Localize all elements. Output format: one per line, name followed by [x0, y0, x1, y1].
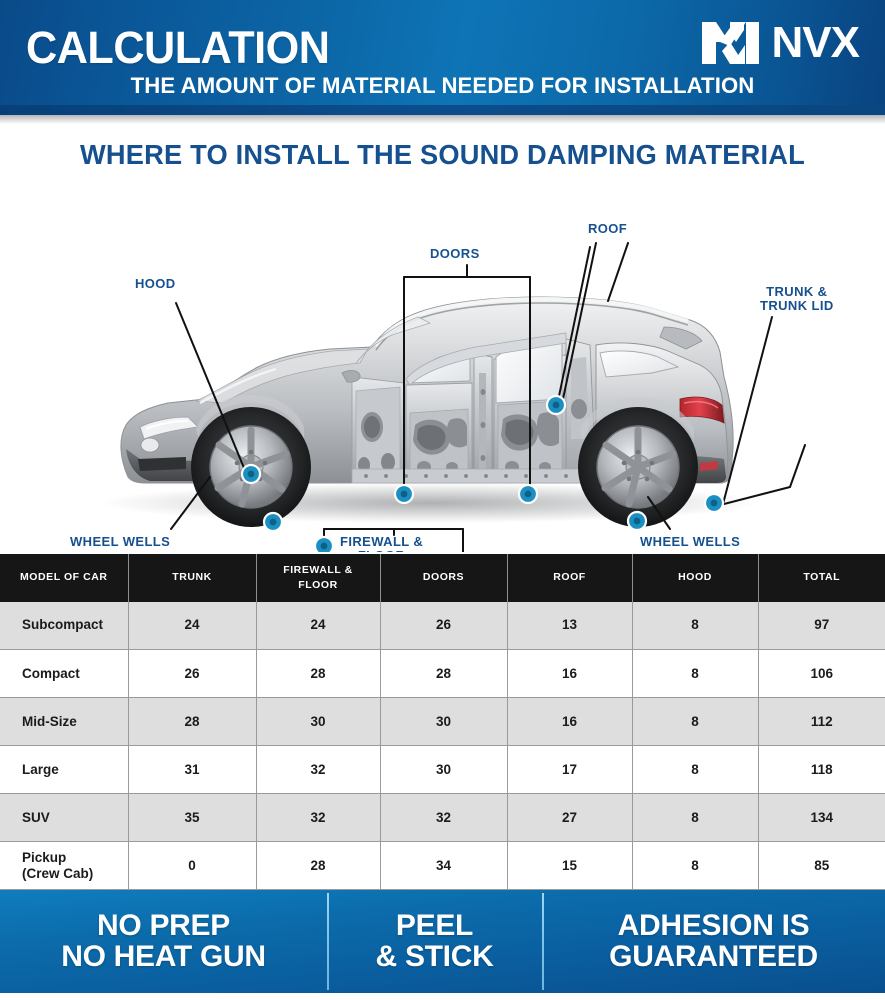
- label-trunk-line2: TRUNK LID: [760, 299, 834, 314]
- cell-total: 112: [758, 698, 885, 746]
- brand-logo: NVX: [700, 20, 859, 70]
- col-header-roof: ROOF: [507, 554, 632, 602]
- cell-roof: 27: [507, 794, 632, 842]
- cell-model: Large: [0, 746, 128, 794]
- col-header-firewall-line1: FIREWALL &: [261, 563, 376, 577]
- cell-total: 106: [758, 650, 885, 698]
- cell-firewall-floor: 32: [256, 746, 380, 794]
- label-hood: HOOD: [135, 277, 176, 292]
- footer-benefits: NO PREP NO HEAT GUN PEEL & STICK ADHESIO…: [0, 890, 885, 993]
- cell-total: 97: [758, 602, 885, 650]
- header-bottom-band: [0, 105, 885, 115]
- label-firewall-line1: FIREWALL &: [340, 535, 423, 550]
- col-header-firewall-floor: FIREWALL & FLOOR: [256, 554, 380, 602]
- table-row: SUV 35 32 32 27 8 134: [0, 794, 885, 842]
- footer-peel-line1: PEEL: [376, 911, 494, 942]
- material-table-wrapper: MODEL OF CAR TRUNK FIREWALL & FLOOR DOOR…: [0, 554, 885, 891]
- cell-trunk: 24: [128, 602, 256, 650]
- cell-total: 118: [758, 746, 885, 794]
- label-wheel-wells-front: WHEEL WELLS: [70, 535, 170, 550]
- cell-model: Mid-Size: [0, 698, 128, 746]
- cell-model: SUV: [0, 794, 128, 842]
- cell-roof: 16: [507, 650, 632, 698]
- label-roof: ROOF: [588, 222, 627, 237]
- col-header-hood: HOOD: [632, 554, 758, 602]
- cell-firewall-floor: 24: [256, 602, 380, 650]
- section-heading: WHERE TO INSTALL THE SOUND DAMPING MATER…: [4, 141, 880, 169]
- cell-doors: 28: [380, 650, 507, 698]
- car-cutaway-illustration: [0, 177, 885, 552]
- cell-trunk: 31: [128, 746, 256, 794]
- cell-model: Pickup (Crew Cab): [0, 842, 128, 890]
- col-header-doors: DOORS: [380, 554, 507, 602]
- cell-firewall-floor: 30: [256, 698, 380, 746]
- cell-model: Compact: [0, 650, 128, 698]
- table-row: Large 31 32 30 17 8 118: [0, 746, 885, 794]
- table-row: Subcompact 24 24 26 13 8 97: [0, 602, 885, 650]
- cell-hood: 8: [632, 794, 758, 842]
- material-table: MODEL OF CAR TRUNK FIREWALL & FLOOR DOOR…: [0, 554, 885, 891]
- xs-bowtie-logo-mark-icon: [700, 20, 774, 66]
- table-row: Pickup (Crew Cab) 0 28 34 15 8 85: [0, 842, 885, 890]
- header-drop-shadow: [0, 115, 885, 124]
- cell-roof: 13: [507, 602, 632, 650]
- cell-model: Subcompact: [0, 602, 128, 650]
- col-header-total: TOTAL: [758, 554, 885, 602]
- cell-trunk: 35: [128, 794, 256, 842]
- cell-total: 134: [758, 794, 885, 842]
- label-doors: DOORS: [430, 247, 480, 262]
- table-row: Mid-Size 28 30 30 16 8 112: [0, 698, 885, 746]
- cell-trunk: 26: [128, 650, 256, 698]
- cell-firewall-floor: 28: [256, 842, 380, 890]
- footer-adhesion-line1: ADHESION IS: [609, 911, 818, 942]
- footer-no-prep-line1: NO PREP: [61, 911, 265, 942]
- label-wheel-wells-rear: WHEEL WELLS: [640, 535, 740, 550]
- label-firewall-floor: FIREWALL & FLOOR: [340, 535, 423, 552]
- infographic-page: CALCULATION: [0, 0, 885, 1000]
- cell-model-line1: Pickup: [22, 850, 124, 866]
- cell-doors: 34: [380, 842, 507, 890]
- header-subtitle: THE AMOUNT OF MATERIAL NEEDED FOR INSTAL…: [32, 75, 853, 98]
- cell-roof: 16: [507, 698, 632, 746]
- footer-peel-line2: & STICK: [376, 942, 494, 973]
- table-row: Compact 26 28 28 16 8 106: [0, 650, 885, 698]
- label-trunk-line1: TRUNK &: [760, 285, 834, 300]
- cell-hood: 8: [632, 746, 758, 794]
- cell-model-line2: (Crew Cab): [22, 866, 124, 882]
- col-header-firewall-line2: FLOOR: [261, 578, 376, 592]
- label-firewall-line2: FLOOR: [340, 549, 423, 551]
- cell-hood: 8: [632, 698, 758, 746]
- footer-cell-no-prep: NO PREP NO HEAT GUN: [0, 890, 327, 993]
- cell-doors: 30: [380, 698, 507, 746]
- cell-firewall-floor: 28: [256, 650, 380, 698]
- cell-total: 85: [758, 842, 885, 890]
- cell-doors: 32: [380, 794, 507, 842]
- footer-no-prep-line2: NO HEAT GUN: [61, 942, 265, 973]
- footer-cell-peel: PEEL & STICK: [327, 890, 542, 993]
- rear-wheel: [578, 407, 698, 527]
- footer-cell-adhesion: ADHESION IS GUARANTEED: [542, 890, 885, 993]
- col-header-model: MODEL OF CAR: [0, 554, 128, 602]
- cell-doors: 26: [380, 602, 507, 650]
- cell-hood: 8: [632, 842, 758, 890]
- header-banner: CALCULATION: [0, 0, 885, 115]
- table-header-row: MODEL OF CAR TRUNK FIREWALL & FLOOR DOOR…: [0, 554, 885, 602]
- cell-roof: 15: [507, 842, 632, 890]
- cell-trunk: 0: [128, 842, 256, 890]
- col-header-trunk: TRUNK: [128, 554, 256, 602]
- cell-hood: 8: [632, 602, 758, 650]
- label-trunk: TRUNK & TRUNK LID: [760, 285, 834, 314]
- cell-doors: 30: [380, 746, 507, 794]
- cell-roof: 17: [507, 746, 632, 794]
- cell-trunk: 28: [128, 698, 256, 746]
- cell-firewall-floor: 32: [256, 794, 380, 842]
- page-title: CALCULATION: [26, 25, 329, 70]
- footer-adhesion-line2: GUARANTEED: [609, 942, 818, 973]
- cell-hood: 8: [632, 650, 758, 698]
- brand-wordmark: NVX: [772, 21, 859, 65]
- car-diagram: HOOD DOORS ROOF TRUNK & TRUNK LID WHEEL …: [0, 177, 885, 552]
